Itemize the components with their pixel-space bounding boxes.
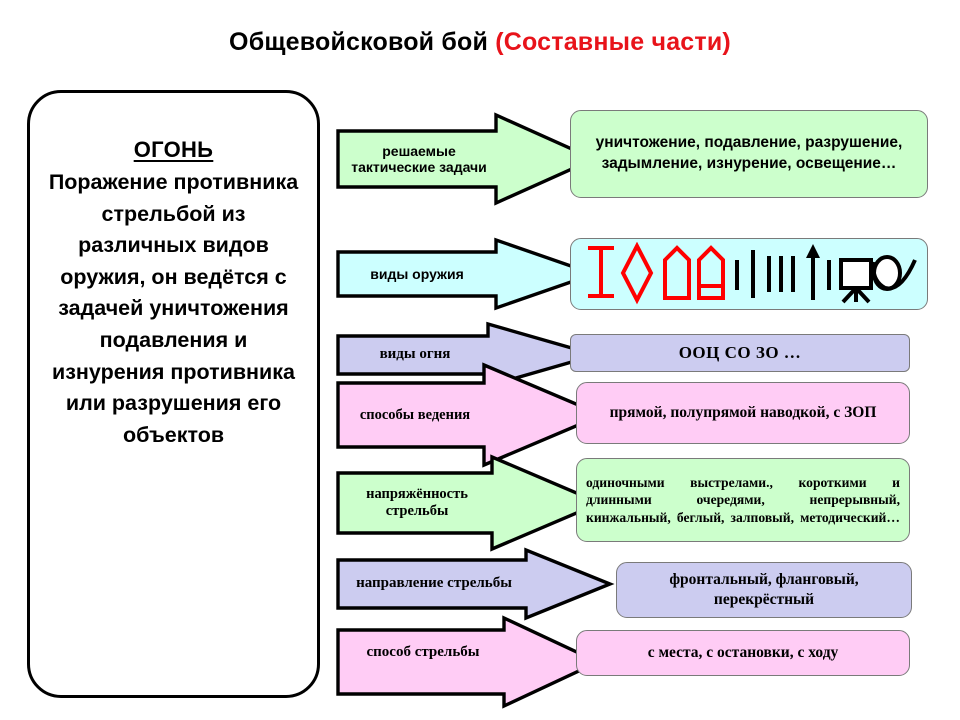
result-box-4: прямой, полупрямой наводкой, с ЗОП [576, 382, 910, 444]
result-text-1: уничтожение, подавление, разрушение, зад… [581, 133, 917, 175]
arrow-row-2[interactable] [336, 238, 596, 310]
result-text-7: с места, с остановки, с ходу [587, 644, 899, 662]
weapon-square-tripod-black-icon [841, 260, 871, 302]
weapon-arrow-up-black-icon [806, 244, 829, 300]
weapon-bullet-red-icon [665, 248, 689, 298]
result-box-6: фронтальный, фланговый, перекрёстный [616, 562, 912, 618]
panel-body-text: Поражение противника стрельбой из различ… [46, 167, 301, 451]
weapon-diamond-red-icon [623, 246, 651, 300]
arrow-row-4[interactable] [336, 363, 604, 467]
fire-definition-panel: ОГОНЬ Поражение противника стрельбой из … [27, 90, 320, 698]
weapon-symbols-box [570, 238, 928, 310]
weapon-line-triple-black-icon [769, 256, 793, 292]
weapon-symbols-group [585, 242, 921, 306]
result-text-3: ООЦ СО ЗО … [581, 343, 899, 363]
weapon-bullet-barred-red-icon [699, 248, 723, 298]
arrow-row-5[interactable] [336, 455, 602, 551]
slide-canvas: Общевойсковой бой (Составные части) ОГОН… [0, 0, 960, 720]
weapon-t-mark-red-icon [588, 248, 614, 296]
result-text-4: прямой, полупрямой наводкой, с ЗОП [587, 403, 899, 423]
arrow-row-1[interactable] [336, 113, 596, 205]
weapon-oval-tail-black-icon [873, 257, 915, 289]
result-box-5: одиночными выстрелами., короткими и длин… [576, 458, 910, 542]
arrow-row-7[interactable] [336, 616, 600, 708]
result-box-3: ООЦ СО ЗО … [570, 334, 910, 372]
result-text-5: одиночными выстрелами., короткими и длин… [586, 474, 900, 526]
panel-heading: ОГОНЬ [134, 137, 214, 163]
title-main: Общевойсковой бой [229, 28, 488, 56]
result-text-6: фронтальный, фланговый, перекрёстный [627, 570, 901, 610]
arrow-row-6[interactable] [336, 548, 612, 620]
title-accent: (Составные части) [495, 28, 731, 56]
page-title: Общевойсковой бой (Составные части) [0, 28, 960, 57]
result-box-7: с места, с остановки, с ходу [576, 630, 910, 676]
result-box-1: уничтожение, подавление, разрушение, зад… [570, 110, 928, 198]
